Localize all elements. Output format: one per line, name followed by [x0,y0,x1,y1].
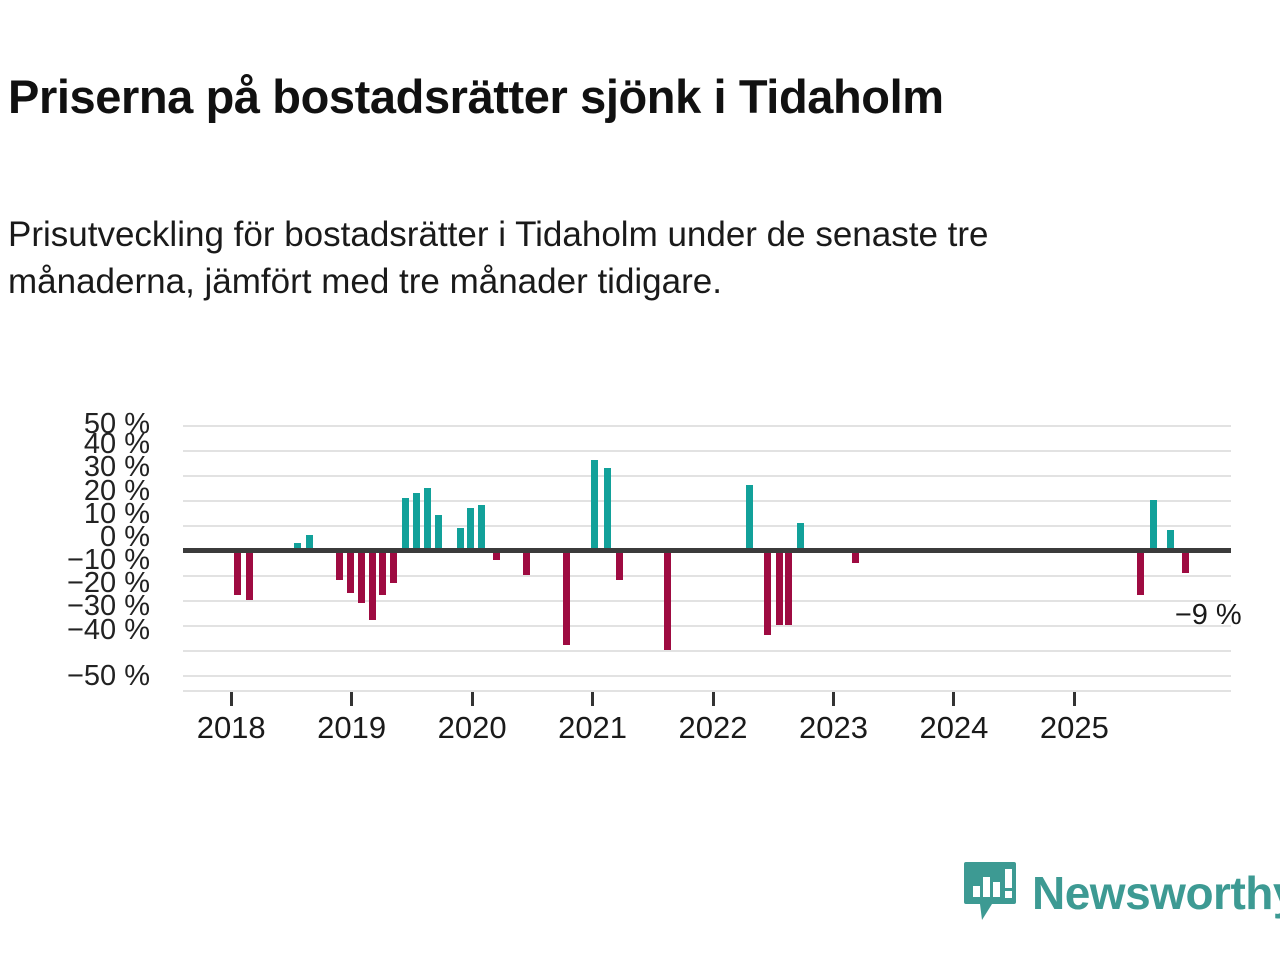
bar [369,550,376,620]
x-tick-label: 2022 [653,710,773,746]
bar [563,550,570,645]
x-tick [230,692,233,706]
bar [467,508,474,551]
chart-subtitle: Prisutveckling för bostadsrätter i Tidah… [8,211,1168,306]
zero-line [183,548,1231,553]
x-axis: 20182019202020212022202320242025 [183,690,1231,760]
x-tick [1073,692,1076,706]
x-tick [832,692,835,706]
bar [390,550,397,583]
bar [591,460,598,550]
bar [424,488,431,551]
bar [664,550,671,650]
chart-plot-area: 50 %40 %30 %20 %10 %0 %−10 %−20 %−30 %−4… [0,400,1280,760]
bar [402,498,409,551]
bar [797,523,804,551]
x-tick-label: 2020 [412,710,532,746]
bar-chart-speech-bubble-icon [962,860,1018,927]
bar [1167,530,1174,550]
bar [457,528,464,551]
bar [379,550,386,595]
y-tick-label: −50 % [40,662,150,691]
bar [1150,500,1157,550]
bar [358,550,365,603]
bar [764,550,771,635]
bar [785,550,792,625]
chart-page: Priserna på bostadsrätter sjönk i Tidaho… [0,0,1280,960]
x-tick-label: 2019 [292,710,412,746]
bar [435,515,442,550]
bar [413,493,420,551]
x-tick [350,692,353,706]
x-tick-label: 2024 [894,710,1014,746]
x-tick-label: 2025 [1014,710,1134,746]
bar [246,550,253,600]
bar [234,550,241,595]
value-annotation: −9 % [1175,599,1242,632]
x-tick-label: 2023 [773,710,893,746]
x-tick [712,692,715,706]
x-tick [591,692,594,706]
page-title: Priserna på bostadsrätter sjönk i Tidaho… [8,71,1272,123]
bar [523,550,530,575]
x-tick [952,692,955,706]
bar [1182,550,1189,573]
bar [776,550,783,625]
brand-name: Newsworthy [1032,870,1280,916]
x-tick [471,692,474,706]
y-tick-label: −40 % [40,616,150,645]
x-tick-label: 2018 [171,710,291,746]
chart-bars [183,400,1231,690]
bar [347,550,354,593]
bar [336,550,343,580]
bar [604,468,611,551]
y-axis-labels: 50 %40 %30 %20 %10 %0 %−10 %−20 %−30 %−4… [40,400,150,690]
newsworthy-logo: Newsworthy [962,862,1280,924]
bar [1137,550,1144,595]
x-tick-label: 2021 [533,710,653,746]
bar [616,550,623,580]
bar [478,505,485,550]
bar [746,485,753,550]
